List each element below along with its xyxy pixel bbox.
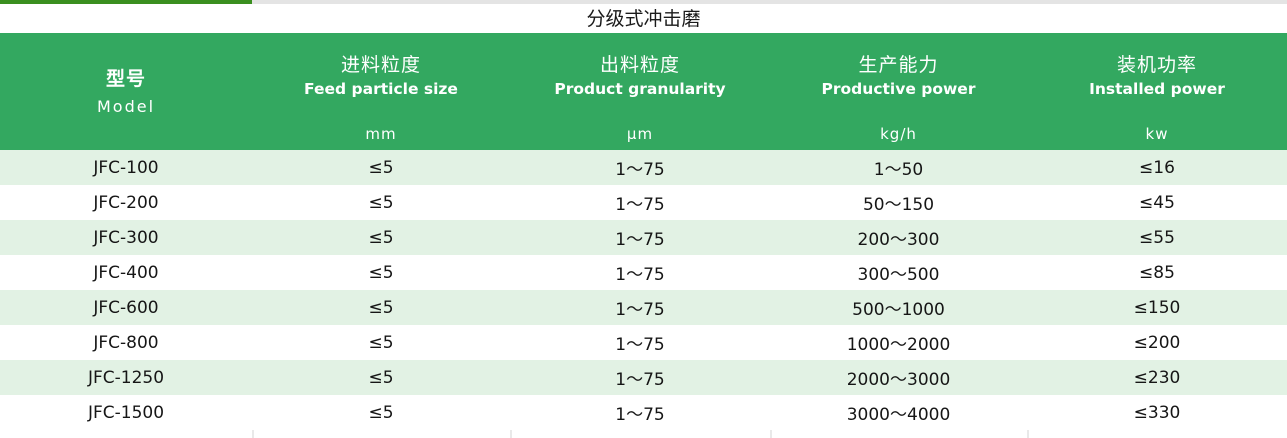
table-row: JFC-1250≤51～752000～3000≤230 [0,360,1287,395]
unit-power: kw [1146,125,1169,143]
cell-installed-power: ≤330 [1027,395,1287,430]
header-cell-model: 型号 Model [0,33,252,150]
header-cell-productive-power: 生产能力 Productive power [770,33,1027,118]
table-row: JFC-800≤51～751000～2000≤200 [0,325,1287,360]
cell-product-granularity: 1～75 [510,325,770,360]
cell-product-granularity: 1～75 [510,360,770,395]
title-bar: 分级式冲击磨 [0,4,1287,33]
table-row: JFC-200≤51～7550～150≤45 [0,185,1287,220]
cell-productive-power: 200～300 [770,220,1027,255]
unit-cell-feed: mm [252,118,510,150]
footer-divider-1 [252,430,254,438]
cell-installed-power: ≤230 [1027,360,1287,395]
table-header: 型号 Model 进料粒度 Feed particle size 出料粒度 Pr… [0,33,1287,150]
cell-product-granularity: 1～75 [510,150,770,185]
cell-model: JFC-300 [0,220,252,255]
cell-feed-particle-size: ≤5 [252,185,510,220]
cell-feed-particle-size: ≤5 [252,395,510,430]
header-model-en: Model [0,94,252,120]
table-row: JFC-100≤51～751～50≤16 [0,150,1287,185]
page-title: 分级式冲击磨 [0,6,1287,32]
cell-installed-power: ≤45 [1027,185,1287,220]
header-feed-en: Feed particle size [252,78,510,100]
cell-model: JFC-400 [0,255,252,290]
cell-productive-power: 1000～2000 [770,325,1027,360]
header-granularity-cn: 出料粒度 [510,52,770,78]
unit-granularity: μm [627,125,653,143]
cell-model: JFC-200 [0,185,252,220]
footer-divider-2 [510,430,512,438]
table-row: JFC-600≤51～75500～1000≤150 [0,290,1287,325]
cell-installed-power: ≤16 [1027,150,1287,185]
cell-product-granularity: 1～75 [510,290,770,325]
cell-model: JFC-1250 [0,360,252,395]
cell-installed-power: ≤200 [1027,325,1287,360]
cell-product-granularity: 1～75 [510,255,770,290]
table-row: JFC-1500≤51～753000～4000≤330 [0,395,1287,430]
cell-model: JFC-100 [0,150,252,185]
cell-product-granularity: 1～75 [510,185,770,220]
header-capacity-cn: 生产能力 [770,52,1027,78]
cell-feed-particle-size: ≤5 [252,255,510,290]
cell-installed-power: ≤150 [1027,290,1287,325]
cell-feed-particle-size: ≤5 [252,150,510,185]
unit-capacity: kg/h [880,125,917,143]
header-cell-feed-particle-size: 进料粒度 Feed particle size [252,33,510,118]
cell-feed-particle-size: ≤5 [252,220,510,255]
cell-feed-particle-size: ≤5 [252,325,510,360]
header-cell-installed-power: 装机功率 Installed power [1027,33,1287,118]
header-power-cn: 装机功率 [1027,52,1287,78]
table-row: JFC-400≤51～75300～500≤85 [0,255,1287,290]
cell-product-granularity: 1～75 [510,220,770,255]
header-feed-cn: 进料粒度 [252,52,510,78]
cell-productive-power: 300～500 [770,255,1027,290]
specification-table: 型号 Model 进料粒度 Feed particle size 出料粒度 Pr… [0,33,1287,430]
header-power-en: Installed power [1027,78,1287,100]
footer-divider-4 [1027,430,1029,438]
cell-installed-power: ≤55 [1027,220,1287,255]
header-row-main: 型号 Model 进料粒度 Feed particle size 出料粒度 Pr… [0,33,1287,118]
unit-cell-granularity: μm [510,118,770,150]
cell-feed-particle-size: ≤5 [252,290,510,325]
cell-productive-power: 3000～4000 [770,395,1027,430]
unit-cell-capacity: kg/h [770,118,1027,150]
header-model-cn: 型号 [0,64,252,94]
table-row: JFC-300≤51～75200～300≤55 [0,220,1287,255]
cell-product-granularity: 1～75 [510,395,770,430]
cell-model: JFC-800 [0,325,252,360]
unit-cell-power: kw [1027,118,1287,150]
footer-divider-3 [770,430,772,438]
cell-model: JFC-600 [0,290,252,325]
cell-installed-power: ≤85 [1027,255,1287,290]
cell-productive-power: 500～1000 [770,290,1027,325]
table-footer-strip [0,430,1287,438]
cell-feed-particle-size: ≤5 [252,360,510,395]
cell-model: JFC-1500 [0,395,252,430]
header-granularity-en: Product granularity [510,78,770,100]
cell-productive-power: 50～150 [770,185,1027,220]
header-capacity-en: Productive power [770,78,1027,100]
table-body: JFC-100≤51～751～50≤16JFC-200≤51～7550～150≤… [0,150,1287,430]
unit-feed: mm [365,125,396,143]
header-cell-product-granularity: 出料粒度 Product granularity [510,33,770,118]
cell-productive-power: 2000～3000 [770,360,1027,395]
cell-productive-power: 1～50 [770,150,1027,185]
